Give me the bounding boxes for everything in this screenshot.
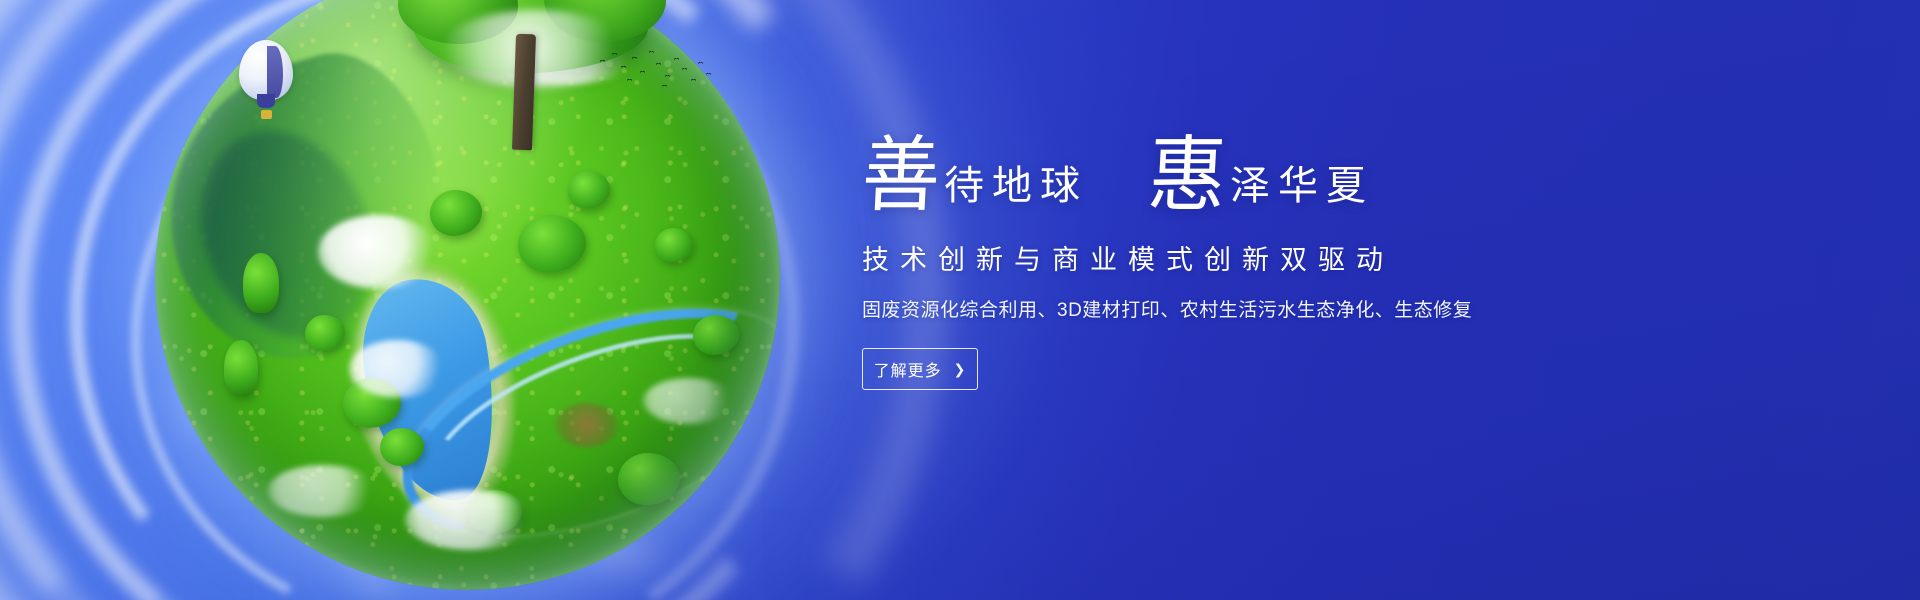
hero-banner: 善 待地球 惠 泽华夏 技术创新与商业模式创新双驱动 固废资源化综合利用、3D建… bbox=[0, 0, 1920, 600]
balloon-skirt bbox=[257, 94, 275, 108]
bird-flock-icon bbox=[594, 46, 720, 96]
bird-icon bbox=[691, 79, 696, 82]
balloon-envelope bbox=[239, 40, 293, 100]
tree-trunk bbox=[512, 34, 536, 151]
bird-icon bbox=[621, 66, 626, 69]
balloon-stripe bbox=[267, 46, 283, 98]
bird-icon bbox=[600, 60, 605, 63]
bird-icon bbox=[706, 73, 711, 76]
subtitle: 技术创新与商业模式创新双驱动 bbox=[862, 238, 1862, 277]
bird-icon bbox=[649, 51, 654, 54]
bird-icon bbox=[640, 71, 645, 74]
learn-more-label: 了解更多 bbox=[874, 357, 942, 381]
bird-icon bbox=[632, 57, 637, 60]
headline: 善 待地球 惠 泽华夏 bbox=[862, 118, 1862, 214]
bird-icon bbox=[682, 68, 687, 71]
bird-icon bbox=[656, 63, 661, 66]
headline-char-shan: 善 bbox=[860, 137, 942, 216]
balloon-basket bbox=[261, 110, 272, 119]
bird-icon bbox=[612, 53, 617, 56]
bird-icon bbox=[665, 75, 670, 78]
bird-icon bbox=[698, 62, 703, 65]
headline-text-daidiqiu: 待地球 bbox=[944, 166, 1088, 214]
headline-text-zehuaxia: 泽华夏 bbox=[1230, 166, 1374, 214]
bird-icon bbox=[662, 85, 667, 88]
learn-more-button[interactable]: 了解更多 ❯ bbox=[862, 348, 978, 390]
bird-icon bbox=[674, 58, 679, 61]
bird-icon bbox=[627, 79, 632, 82]
hero-copy-block: 善 待地球 惠 泽华夏 技术创新与商业模式创新双驱动 固废资源化综合利用、3D建… bbox=[862, 118, 1862, 390]
headline-char-hui: 惠 bbox=[1146, 137, 1228, 216]
chevron-right-icon: ❯ bbox=[954, 361, 967, 378]
tagline: 固废资源化综合利用、3D建材打印、农村生活污水生态净化、生态修复 bbox=[862, 295, 1862, 322]
hot-air-balloon-icon bbox=[239, 40, 293, 122]
